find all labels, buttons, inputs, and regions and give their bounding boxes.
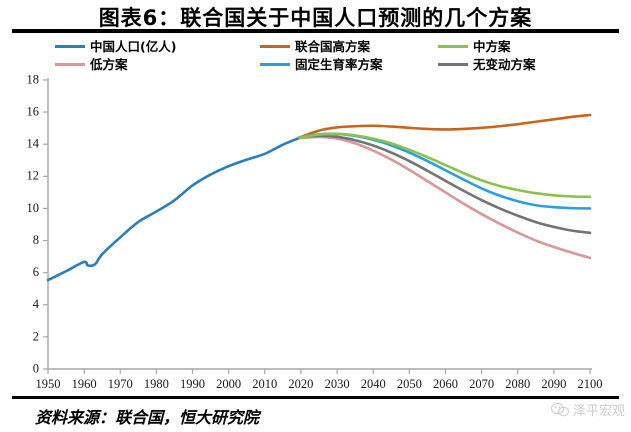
svg-text:2070: 2070 <box>469 377 494 391</box>
title-divider <box>12 29 619 33</box>
svg-text:1990: 1990 <box>180 377 205 391</box>
legend-swatch-icon <box>438 63 468 66</box>
legend-row: 中国人口(亿人) 联合国高方案 中方案 <box>55 38 625 55</box>
legend-item-un-high: 联合国高方案 <box>260 38 370 55</box>
chart-legend: 中国人口(亿人) 联合国高方案 中方案 低方案 固定生育率方案 无变动 <box>55 38 625 74</box>
footer-divider <box>12 396 619 399</box>
svg-text:2090: 2090 <box>541 377 566 391</box>
watermark-label: 泽平宏观 <box>573 400 625 419</box>
svg-text:2: 2 <box>33 329 39 343</box>
svg-text:18: 18 <box>27 74 40 86</box>
svg-text:1960: 1960 <box>72 377 97 391</box>
svg-text:10: 10 <box>27 201 40 215</box>
legend-swatch-icon <box>55 63 85 66</box>
svg-text:14: 14 <box>27 137 40 151</box>
legend-swatch-icon <box>260 45 290 48</box>
svg-text:2100: 2100 <box>578 377 603 391</box>
legend-item-no-change: 无变动方案 <box>438 56 536 73</box>
wechat-logo-icon <box>550 402 570 418</box>
legend-label: 无变动方案 <box>473 56 536 73</box>
legend-label: 中国人口(亿人) <box>90 38 176 55</box>
svg-text:2020: 2020 <box>288 377 313 391</box>
legend-label: 中方案 <box>473 38 511 55</box>
svg-text:4: 4 <box>33 297 40 311</box>
svg-text:2050: 2050 <box>397 377 422 391</box>
svg-text:2030: 2030 <box>325 377 350 391</box>
legend-item-china-population: 中国人口(亿人) <box>55 38 176 55</box>
legend-swatch-icon <box>55 45 85 48</box>
svg-text:6: 6 <box>33 265 39 279</box>
svg-text:1970: 1970 <box>108 377 133 391</box>
svg-text:8: 8 <box>33 233 39 247</box>
legend-label: 固定生育率方案 <box>295 56 383 73</box>
plot-area: 0246810121416181950196019701980199020002… <box>0 74 631 384</box>
legend-swatch-icon <box>438 45 468 48</box>
svg-text:2040: 2040 <box>361 377 386 391</box>
svg-text:2080: 2080 <box>505 377 530 391</box>
watermark: 泽平宏观 <box>550 400 625 419</box>
svg-text:1980: 1980 <box>144 377 169 391</box>
svg-text:2010: 2010 <box>252 377 277 391</box>
legend-label: 联合国高方案 <box>295 38 370 55</box>
legend-row: 低方案 固定生育率方案 无变动方案 <box>55 56 625 73</box>
legend-item-constant-fertility: 固定生育率方案 <box>260 56 383 73</box>
legend-item-medium: 中方案 <box>438 38 511 55</box>
svg-text:16: 16 <box>27 104 40 118</box>
svg-text:12: 12 <box>27 169 40 183</box>
legend-item-low: 低方案 <box>55 56 128 73</box>
legend-label: 低方案 <box>90 56 128 73</box>
svg-text:0: 0 <box>33 361 39 375</box>
svg-text:2060: 2060 <box>433 377 458 391</box>
svg-text:1950: 1950 <box>36 377 61 391</box>
line-chart: 0246810121416181950196019701980199020002… <box>0 74 631 394</box>
page-title: 图表6：联合国关于中国人口预测的几个方案 <box>0 2 631 32</box>
svg-text:2000: 2000 <box>216 377 241 391</box>
legend-swatch-icon <box>260 63 290 66</box>
source-note: 资料来源：联合国，恒大研究院 <box>35 404 259 428</box>
chart-page: 图表6：联合国关于中国人口预测的几个方案 中国人口(亿人) 联合国高方案 中方案… <box>0 0 631 432</box>
